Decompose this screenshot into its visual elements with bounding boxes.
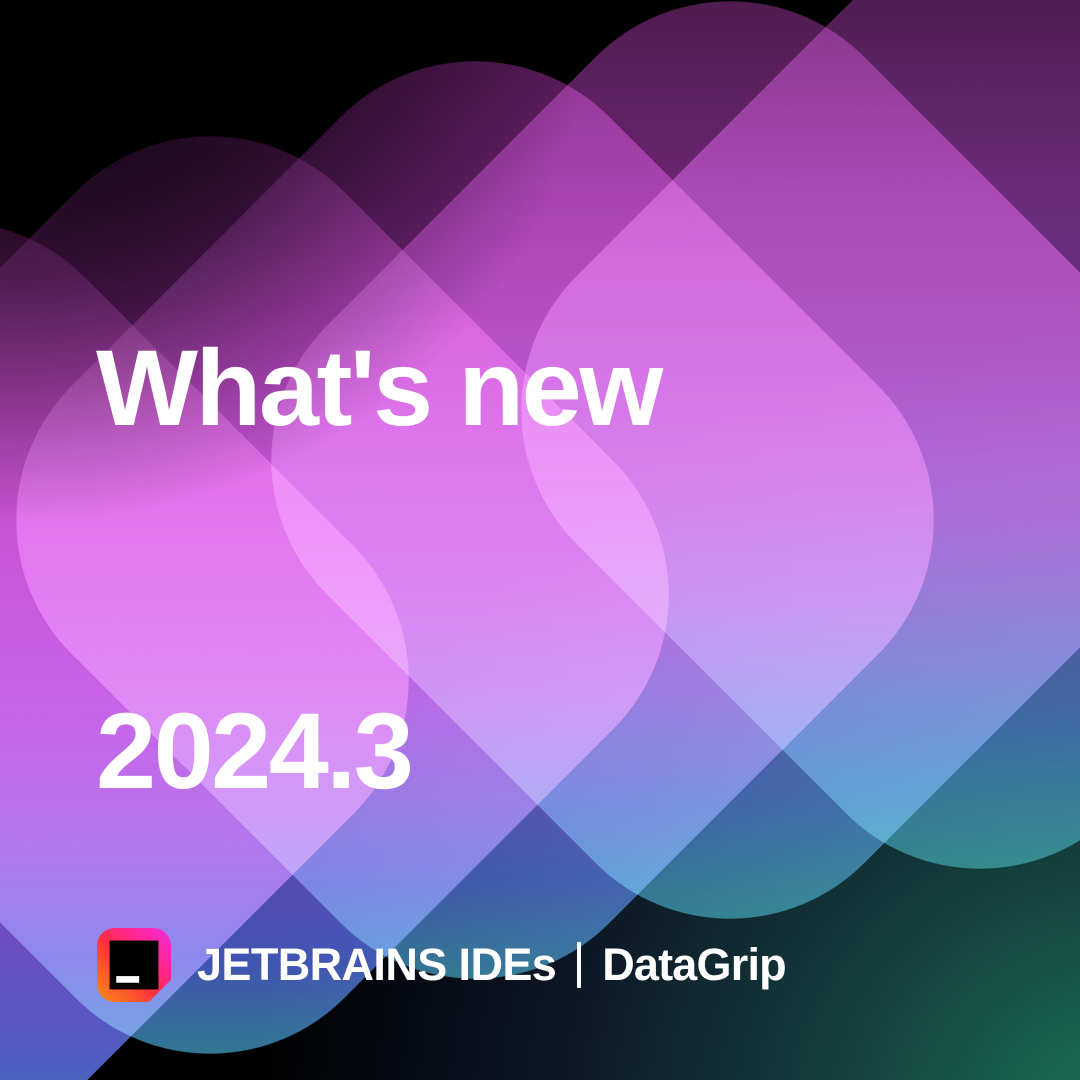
page-title: What's new 2024.3 (96, 86, 661, 1054)
wordmark-divider (577, 942, 581, 988)
brand-lockup: JETBRAINS IDEs DataGrip (97, 928, 786, 1002)
wordmark: JETBRAINS IDEs DataGrip (197, 939, 786, 991)
promo-canvas: What's new 2024.3 JETBRAINS IDEs (0, 0, 1080, 1080)
jetbrains-logo-icon (97, 928, 171, 1002)
product-family-label: JETBRAINS IDEs (197, 939, 556, 991)
title-line-whats-new: What's new (96, 328, 661, 449)
title-line-version: 2024.3 (96, 691, 661, 812)
product-name-label: DataGrip (602, 939, 786, 991)
